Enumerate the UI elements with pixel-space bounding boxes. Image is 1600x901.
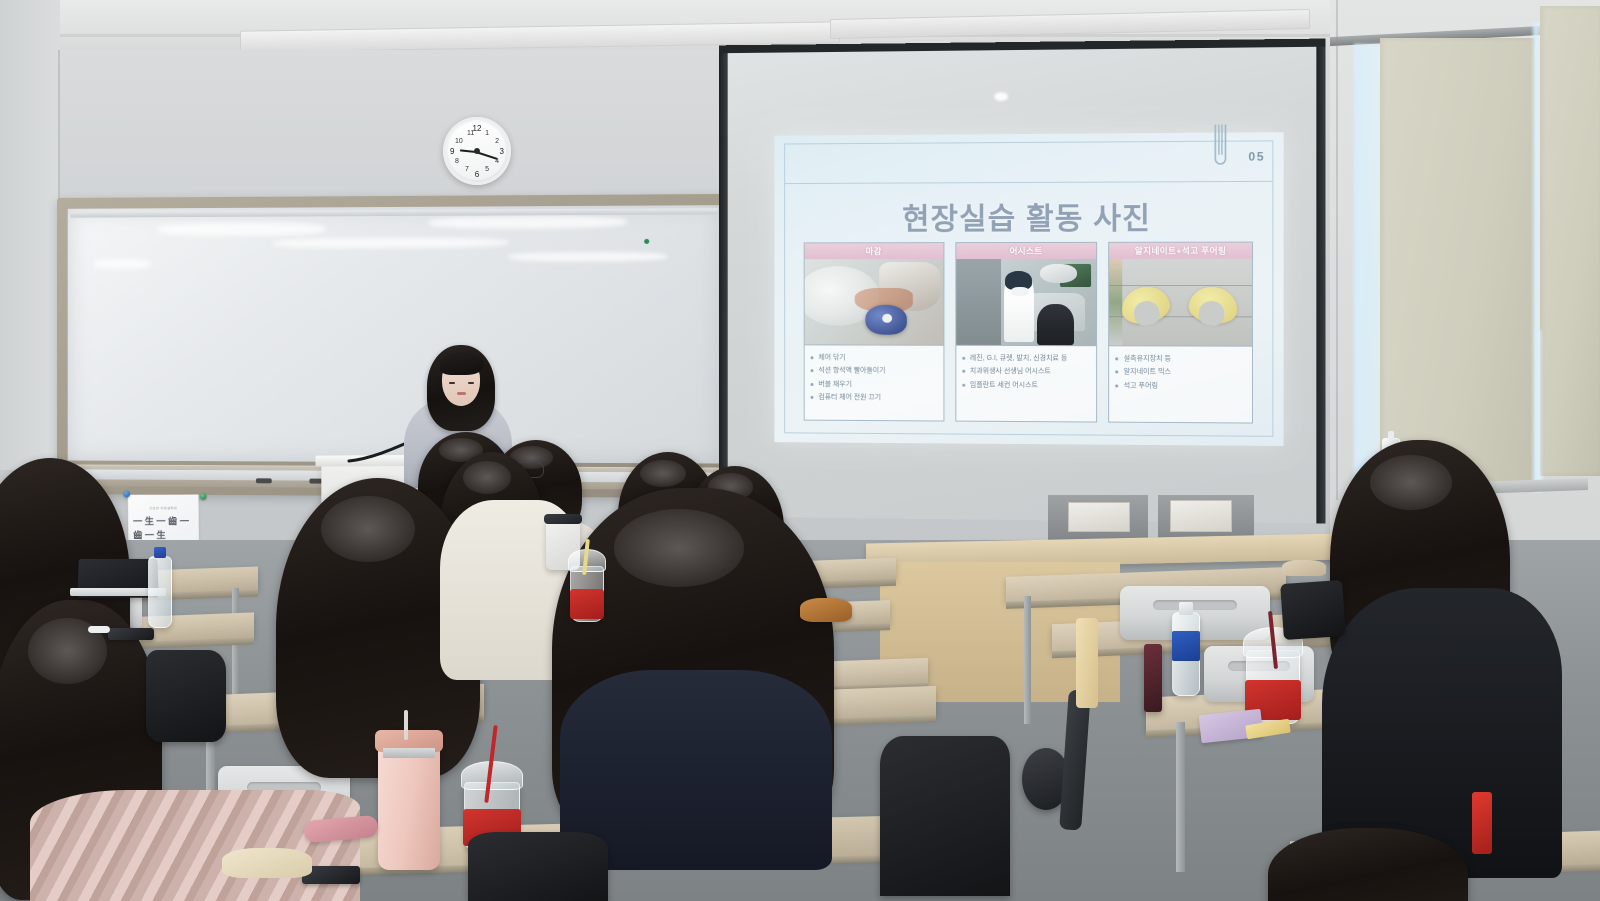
storage-box-2 [1170, 500, 1232, 532]
panel-2-bullet-2: 치과위생사 선생님 어시스트 [962, 365, 1092, 379]
presenter-mouth [457, 392, 466, 395]
backpack-right[interactable] [1280, 580, 1346, 640]
smartphone-left[interactable] [108, 628, 154, 640]
backpack-left[interactable] [146, 650, 226, 742]
straw-pink-tumbler [404, 710, 408, 740]
panel-3-photo [1110, 259, 1252, 346]
panel-1-header: 마감 [805, 243, 943, 259]
projector-hotspot [994, 92, 1008, 101]
clock-numeral-9: 9 [450, 147, 454, 156]
poster-headline: 一生一齒一齒一生 [133, 514, 194, 542]
iced-drink-center[interactable] [570, 566, 604, 622]
clock-center-pin [474, 148, 480, 154]
tan-folder-right[interactable] [1076, 618, 1098, 708]
panel-1-photo [805, 259, 943, 345]
panel-1-bullet-3: 버블 채우기 [811, 378, 940, 392]
window-light-gap-3 [1536, 330, 1542, 490]
magnet-green-topright[interactable] [200, 493, 207, 500]
white-pen[interactable] [88, 626, 110, 633]
clock-numeral-6: 6 [443, 170, 511, 179]
brown-leather-bag[interactable] [800, 598, 852, 622]
umbrella-right[interactable] [1144, 644, 1162, 712]
panel-1-bullet-1: 체어 닦기 [811, 351, 940, 365]
slide-page-number: 05 [1248, 150, 1265, 164]
paperclip-icon [1210, 124, 1230, 173]
slide-title: 현장실습 활동 사진 [774, 193, 1283, 239]
panel-1-bullet-4: 컴퓨터 체어 전원 끄기 [811, 391, 940, 405]
sanitizer-pump[interactable] [1388, 431, 1394, 440]
screen-rail-left [719, 45, 728, 517]
desk-leg-rf-1 [1176, 722, 1185, 872]
slide-panel-3: 알지네이트+석고 푸어링 설측유지장치 등 알지네이트 믹스 석고 푸어링 [1109, 242, 1253, 424]
classroom-photo-scene: 12 6 3 9 11 1 2 4 5 7 8 10 건강한 치위생학과 一生一… [0, 0, 1600, 901]
red-bottle-right[interactable] [1472, 792, 1492, 854]
clock-numeral-1: 1 [485, 130, 489, 137]
presentation-slide: 05 현장실습 활동 사진 마감 체어 닦기 석션 항석액 빨아들이기 [774, 132, 1283, 446]
black-jacket-front [468, 832, 608, 901]
panel-2-bullets: 레진, G.I, 큐렛, 발치, 신경치료 등 치과위생사 선생님 어시스트 임… [956, 345, 1096, 422]
poster-subtitle: 건강한 치위생학과 [149, 506, 177, 511]
roller-blind-2[interactable] [1540, 6, 1600, 476]
roller-blind-1[interactable] [1380, 38, 1535, 488]
panel-2-photo [956, 259, 1096, 345]
travel-mug-lid[interactable] [544, 514, 582, 524]
clock-numeral-12: 12 [443, 124, 511, 133]
clock-numeral-3: 3 [500, 147, 504, 156]
clock-numeral-2: 2 [495, 138, 499, 145]
presenter-fringe [440, 352, 484, 375]
panel-3-bullet-2: 알지네이트 믹스 [1116, 366, 1248, 380]
slide-panel-2: 어시스트 레진, G.I, 큐렛, 발치, 신경치료 등 치과위생사 선생님 어… [955, 242, 1097, 423]
panel-3-header: 알지네이트+석고 푸어링 [1110, 243, 1252, 259]
screen-surface: 05 현장실습 활동 사진 마감 체어 닦기 석션 항석액 빨아들이기 [728, 47, 1317, 524]
clock-numeral-11: 11 [467, 130, 474, 137]
clock-numeral-10: 10 [455, 138, 463, 145]
desk-leg-br-1 [1024, 596, 1031, 724]
green-dot-magnet [644, 239, 649, 244]
student-right-front-edge [1268, 828, 1468, 901]
pink-tumbler[interactable] [378, 730, 440, 870]
water-bottle-right[interactable] [1172, 612, 1200, 696]
marker-1[interactable] [256, 478, 272, 483]
water-bottle-left[interactable] [148, 556, 172, 628]
screen-rail-right [1316, 39, 1325, 524]
panel-2-bullet-1: 레진, G.I, 큐렛, 발치, 신경치료 등 [962, 352, 1092, 366]
storage-box-1 [1068, 502, 1130, 532]
slide-panel-1: 마감 체어 닦기 석션 항석액 빨아들이기 버블 채우기 컴퓨터 체어 전원 끄… [804, 242, 944, 421]
slide-panel-row: 마감 체어 닦기 석션 항석액 빨아들이기 버블 채우기 컴퓨터 체어 전원 끄… [804, 242, 1253, 424]
bag-center-floor[interactable] [880, 736, 1010, 896]
student-plaid-shirt [30, 790, 360, 901]
wall-clock: 12 6 3 9 11 1 2 4 5 7 8 10 [443, 117, 511, 185]
panel-1-bullets: 체어 닦기 석션 항석액 빨아들이기 버블 채우기 컴퓨터 체어 전원 끄기 [805, 344, 943, 420]
cloth-pouch-front[interactable] [222, 848, 312, 878]
panel-1-bullet-2: 석션 항석액 빨아들이기 [811, 365, 940, 379]
panel-2-header: 어시스트 [956, 243, 1096, 259]
panel-2-bullet-3: 임플란트 세컨 어시스트 [962, 379, 1092, 393]
wall-seam-right [1336, 0, 1338, 500]
projection-screen: 05 현장실습 활동 사진 마감 체어 닦기 석션 항석액 빨아들이기 [719, 39, 1326, 524]
pouch-back-right[interactable] [1282, 560, 1326, 576]
panel-3-bullet-1: 설측유지장치 등 [1116, 352, 1248, 366]
panel-3-bullet-3: 석고 푸어링 [1116, 379, 1248, 393]
panel-3-bullets: 설측유지장치 등 알지네이트 믹스 석고 푸어링 [1110, 345, 1252, 422]
clock-numeral-5: 5 [485, 166, 489, 173]
clock-numeral-7: 7 [465, 166, 469, 173]
clock-numeral-8: 8 [455, 158, 459, 165]
left-wall [0, 0, 60, 470]
